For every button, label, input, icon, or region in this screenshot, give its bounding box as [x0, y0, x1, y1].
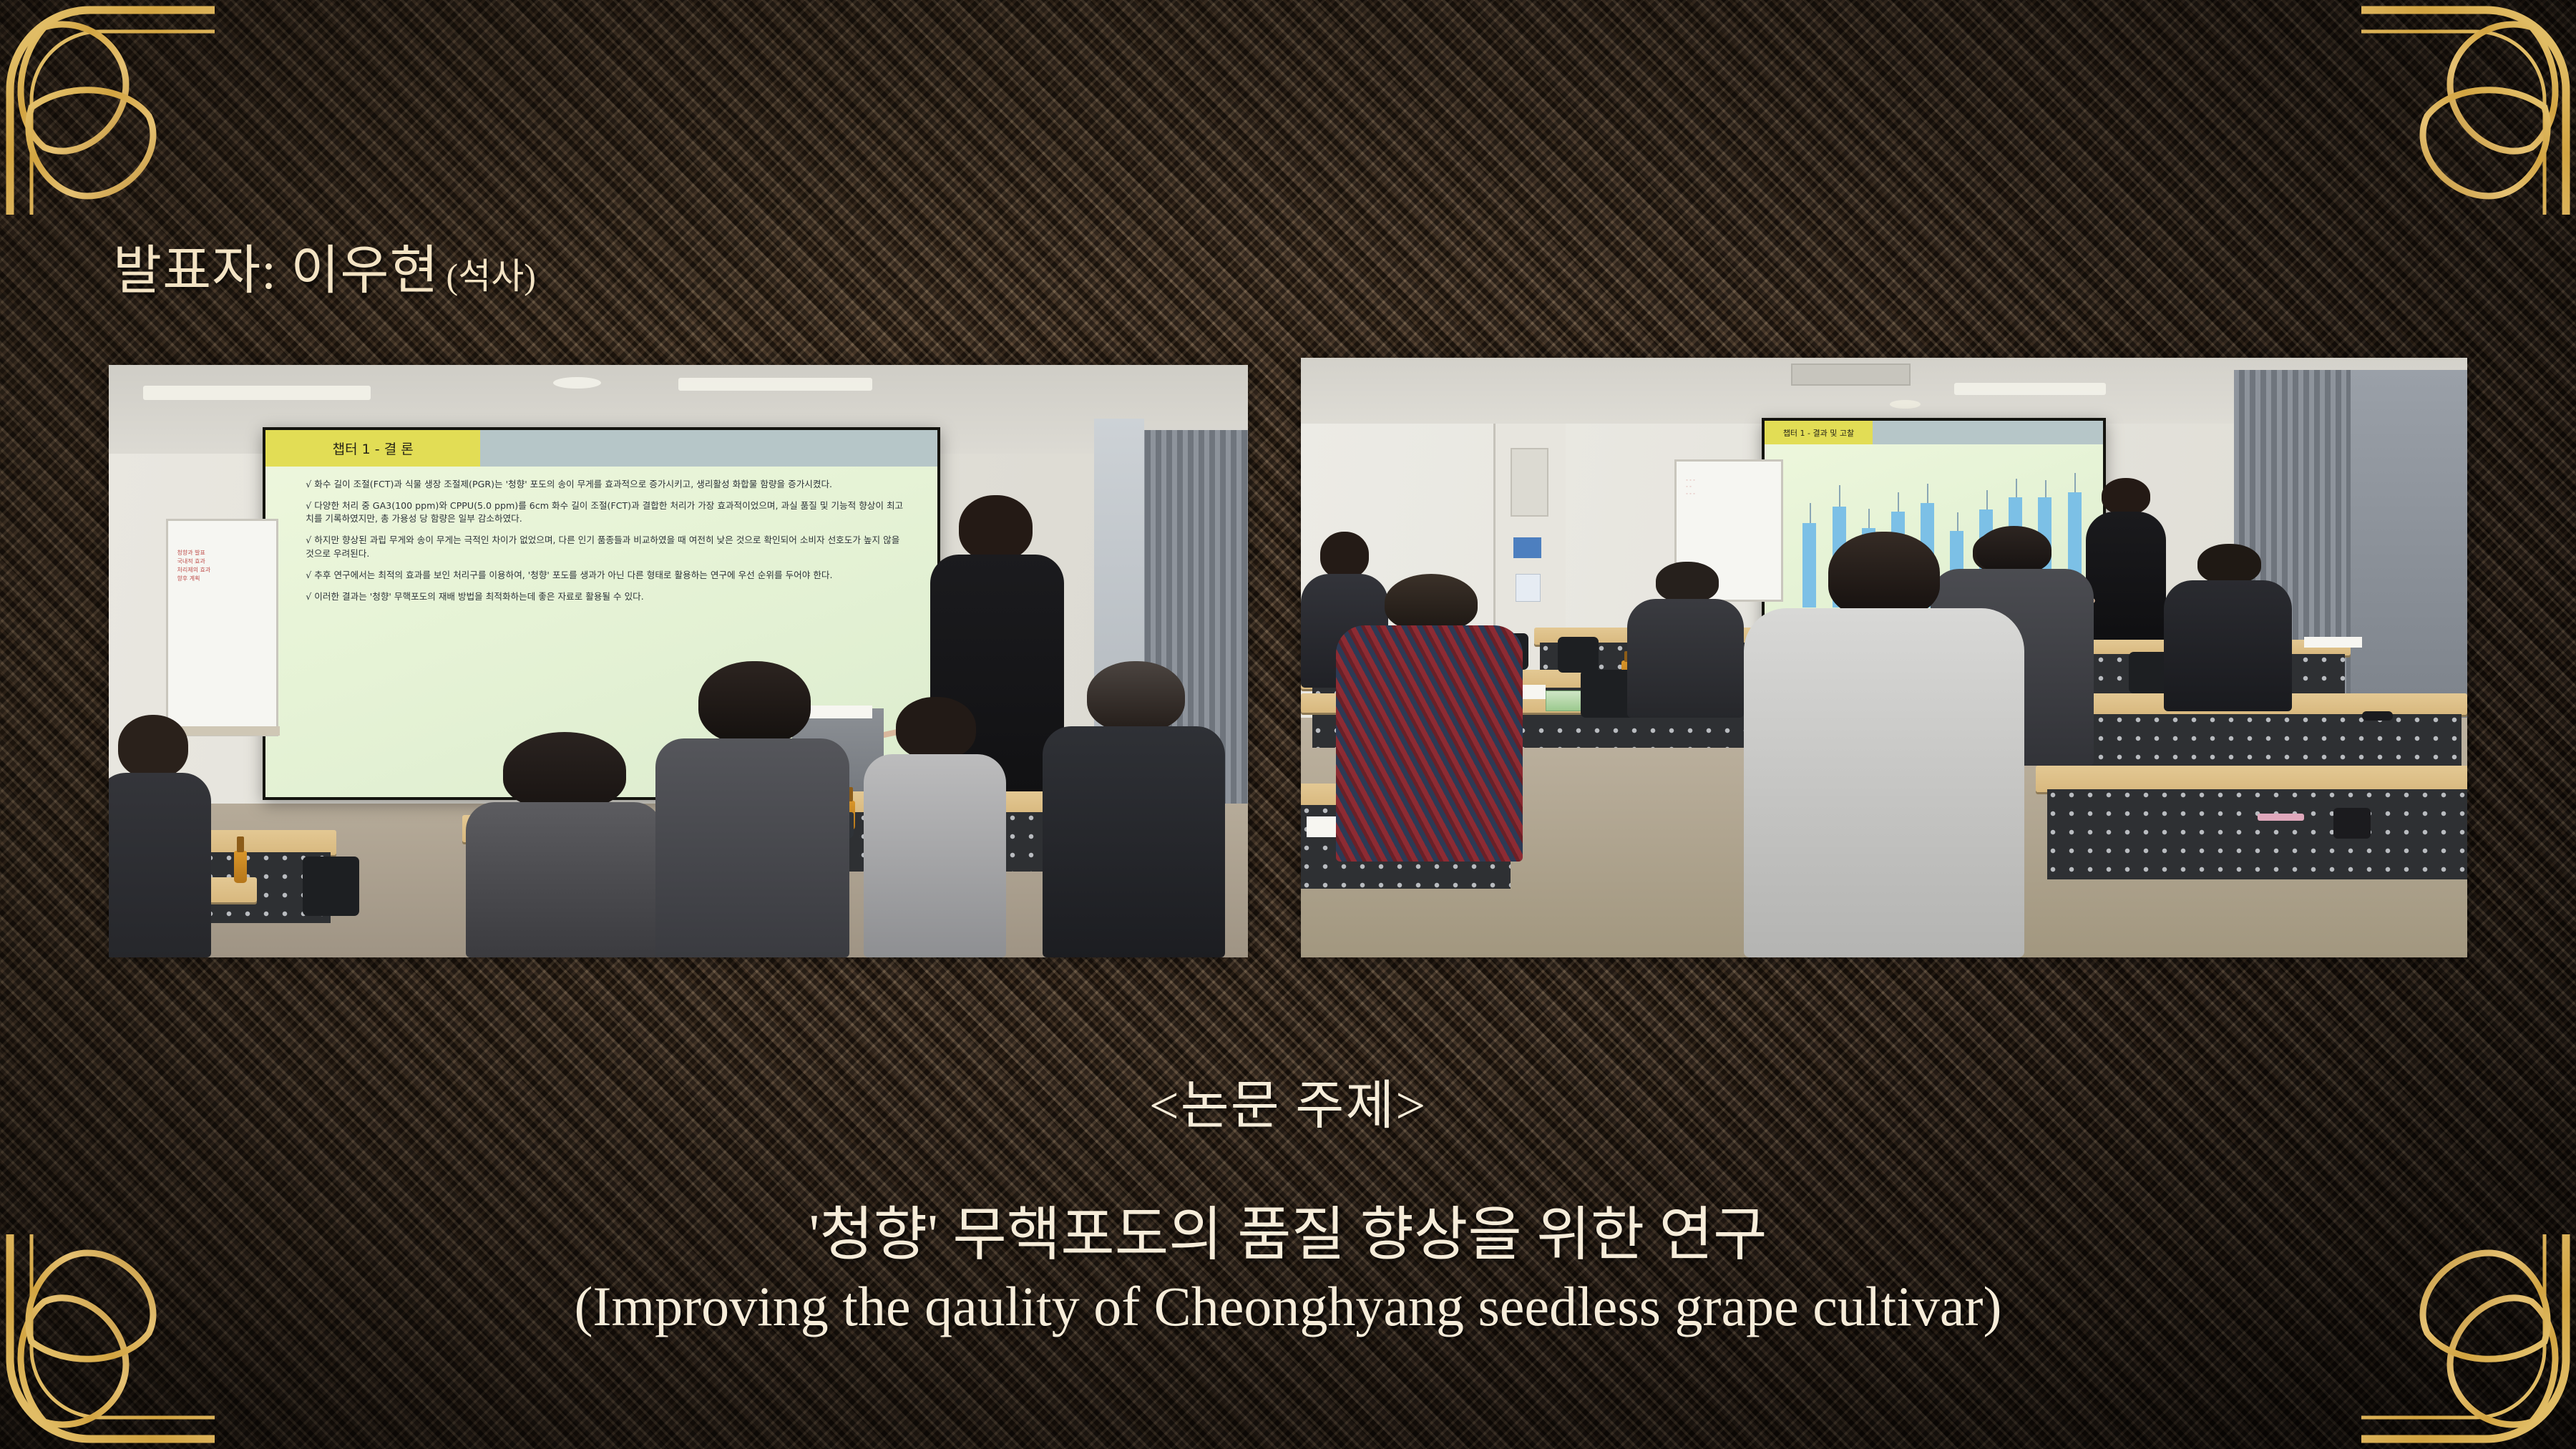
chart-error-bar: [2045, 480, 2046, 498]
presenter-figure: [2082, 478, 2170, 646]
phone: [2333, 808, 2371, 839]
audience-member: [109, 715, 211, 957]
title-block: <논문 주제> '청향' 무핵포도의 품질 향상을 위한 연구 (Improvi…: [0, 1063, 2576, 1340]
slide-chapter-tab: 챕터 1 - 결 론: [265, 430, 481, 467]
chart-error-bar: [2074, 473, 2076, 492]
topic-label: <논문 주제>: [0, 1063, 2576, 1139]
bottle: [234, 851, 247, 884]
chart-error-bar: [1868, 509, 1870, 528]
slide-chapter-tab: 챕터 1 - 결과 및 고찰: [1765, 421, 1873, 445]
presentation-photo-left: 챕터 1 - 결 론 √ 화수 길이 조절(FCT)과 식물 생장 조절제(PG…: [109, 365, 1248, 957]
chart-error-bar: [1986, 490, 1988, 509]
chart-error-bar: [1810, 503, 1811, 523]
audience-member: [1744, 532, 2024, 957]
whiteboard-note-line: ◦ ◦ ◦: [1686, 478, 1773, 485]
slide-paragraph: √ 하지만 향상된 과립 무게와 송이 무게는 극적인 차이가 없었으며, 다른…: [306, 534, 904, 560]
audience-member: [1336, 574, 1523, 862]
slide-paragraph: √ 다양한 처리 중 GA3(100 ppm)와 CPPU(5.0 ppm)를 …: [306, 499, 904, 526]
presentation-slide: 발표자: 이우현(석사) 챕터 1 - 결 론 √ 화수 길이 조절(FCT)과…: [0, 0, 2576, 1449]
chart-error-bar: [2016, 479, 2017, 497]
presenter-line: 발표자: 이우현(석사): [113, 228, 536, 304]
audience-member: [861, 697, 1009, 957]
audience-member: [1043, 661, 1225, 957]
audience-member: [655, 661, 849, 957]
whiteboard-note-line: 국내적 효과: [177, 557, 268, 566]
audience-member: [1627, 562, 1744, 718]
presenter-name: 발표자: 이우현: [113, 242, 439, 301]
slide-paragraph: √ 화수 길이 조절(FCT)과 식물 생장 조절제(PGR)는 '청향' 포도…: [306, 478, 904, 491]
whiteboard-note-line: 처리제의 효과: [177, 566, 268, 575]
whiteboard-note-line: 청향과 발표: [177, 549, 268, 557]
slide-paragraph: √ 추후 연구에서는 최적의 효과를 보인 처리구를 이용하여, '청향' 포도…: [306, 569, 904, 582]
slide-header-bar: 챕터 1 - 결과 및 고찰: [1765, 421, 2103, 445]
whiteboard-notes: 청향과 발표 국내적 효과 처리제의 효과 향후 계획: [177, 549, 268, 583]
audience-member: [2164, 544, 2292, 712]
slide-paragraph: √ 이러한 결과는 '청향' 무핵포도의 재배 방법을 최적화하는데 좋은 자료…: [306, 590, 904, 603]
thesis-title-english: (Improving the qaulity of Cheonghyang se…: [0, 1273, 2576, 1340]
whiteboard-note-line: ◦ ◦: [1686, 484, 1773, 492]
chart-error-bar: [1927, 484, 1928, 503]
presentation-photo-right: 챕터 1 - 결과 및 고찰 Shoot growth GA3 50ppmGA3…: [1301, 358, 2467, 957]
chart-error-bar: [1839, 485, 1840, 507]
phone: [2362, 711, 2392, 721]
whiteboard-note-line: 향후 계획: [177, 575, 268, 583]
slide-header-bar: 챕터 1 - 결 론: [265, 430, 937, 467]
chart-error-bar: [1898, 492, 1899, 512]
audience-member: [462, 732, 668, 957]
presenter-degree: (석사): [447, 256, 536, 296]
whiteboard-note-line: ◦ ◦ ◦: [1686, 492, 1773, 499]
thesis-title-korean: '청향' 무핵포도의 품질 향상을 위한 연구: [0, 1201, 2576, 1270]
